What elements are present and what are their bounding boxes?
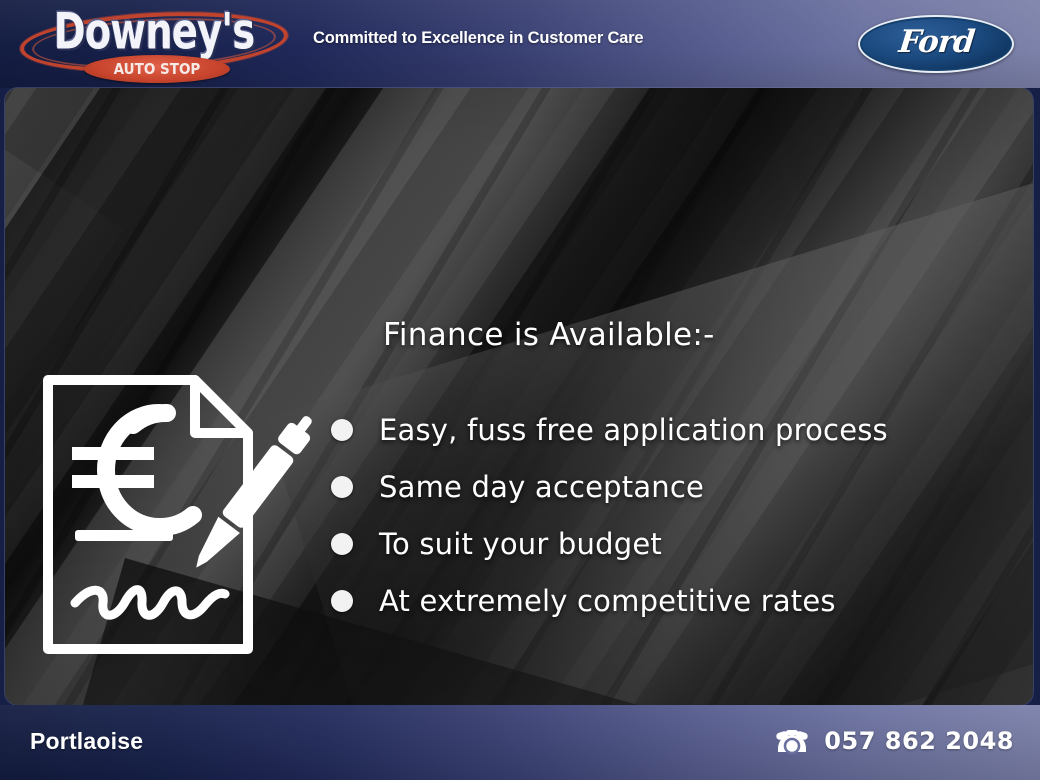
list-item-label: At extremely competitive rates — [379, 584, 836, 618]
benefits-list: Easy, fuss free application process Same… — [331, 401, 1021, 629]
page-header: Downey's AUTO STOP Committed to Excellen… — [0, 0, 1040, 88]
telephone-icon — [774, 727, 810, 755]
list-item-label: Easy, fuss free application process — [379, 413, 888, 447]
ford-logo[interactable]: Ford — [858, 15, 1014, 73]
main-panel: Finance is Available:- Easy, fuss free a… — [5, 88, 1033, 705]
brand-subtitle: AUTO STOP — [91, 60, 222, 78]
bullet-dot-icon — [331, 476, 353, 498]
bullet-dot-icon — [331, 590, 353, 612]
euro-document-signature-icon — [39, 371, 317, 658]
header-tagline: Committed to Excellence in Customer Care — [313, 29, 643, 48]
advert-screen: Downey's AUTO STOP Committed to Excellen… — [0, 0, 1040, 780]
list-item: Same day acceptance — [331, 458, 1021, 515]
brand-name: Downey's — [25, 7, 283, 57]
phone-number: 057 862 2048 — [824, 727, 1014, 755]
list-item: Easy, fuss free application process — [331, 401, 1021, 458]
list-item: At extremely competitive rates — [331, 572, 1021, 629]
downeys-logo[interactable]: Downey's AUTO STOP — [14, 3, 294, 85]
list-item-label: To suit your budget — [379, 527, 662, 561]
dealership-location: Portlaoise — [30, 728, 143, 755]
list-item-label: Same day acceptance — [379, 470, 704, 504]
bullet-dot-icon — [331, 533, 353, 555]
page-title: Finance is Available:- — [383, 317, 715, 353]
contact-phone[interactable]: 057 862 2048 — [774, 727, 1014, 755]
bullet-dot-icon — [331, 419, 353, 441]
ford-wordmark: Ford — [897, 24, 976, 60]
list-item: To suit your budget — [331, 515, 1021, 572]
